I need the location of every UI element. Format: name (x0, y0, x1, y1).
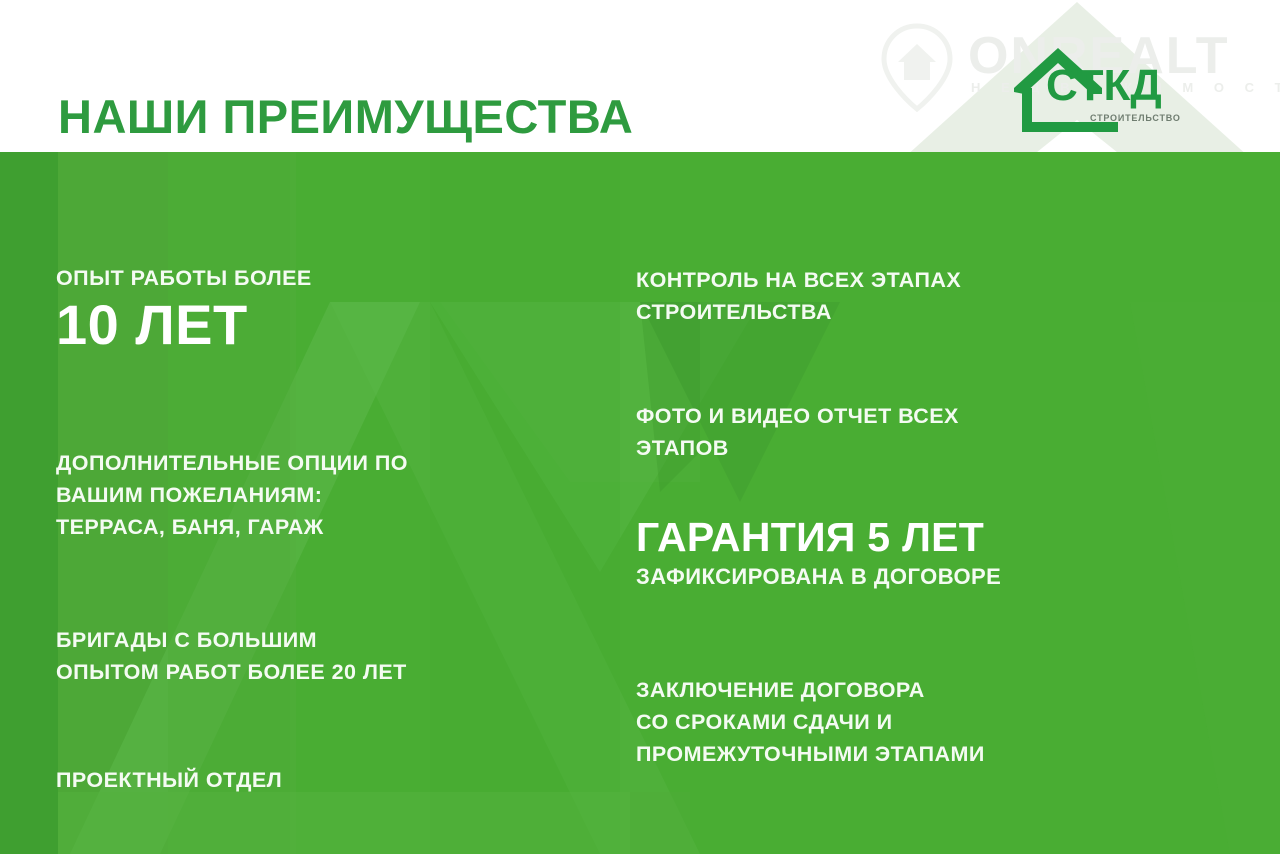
advantage-warranty: ГАРАНТИЯ 5 ЛЕТ ЗАФИКСИРОВАНА В ДОГОВОРЕ (636, 512, 1001, 592)
advantage-line: СТРОИТЕЛЬСТВА (636, 296, 961, 328)
advantage-line: ПРОМЕЖУТОЧНЫМИ ЭТАПАМИ (636, 738, 985, 770)
advantage-line: ФОТО И ВИДЕО ОТЧЕТ ВСЕХ (636, 400, 959, 432)
advantage-line: ДОПОЛНИТЕЛЬНЫЕ ОПЦИИ ПО (56, 447, 408, 479)
advantage-line: КОНТРОЛЬ НА ВСЕХ ЭТАПАХ (636, 264, 961, 296)
advantage-line: СО СРОКАМИ СДАЧИ И (636, 706, 985, 738)
advantage-line: ЗАКЛЮЧЕНИЕ ДОГОВОРА (636, 674, 985, 706)
advantage-line: ЭТАПОВ (636, 432, 959, 464)
advantage-line: ОПЫТ РАБОТЫ БОЛЕЕ (56, 262, 312, 294)
advantage-design-department: ПРОЕКТНЫЙ ОТДЕЛ (56, 764, 282, 796)
advantage-line: БРИГАДЫ С БОЛЬШИМ (56, 624, 407, 656)
logo-wordmark: СТКД (1046, 61, 1162, 111)
advantage-line: ТЕРРАСА, БАНЯ, ГАРАЖ (56, 511, 408, 543)
page-title: НАШИ ПРЕИМУЩЕСТВА (58, 89, 633, 144)
advantages-slide: ОПЫТ РАБОТЫ БОЛЕЕ 10 ЛЕТ ДОПОЛНИТЕЛЬНЫЕ … (0, 0, 1280, 854)
advantage-line: ПРОЕКТНЫЙ ОТДЕЛ (56, 764, 282, 796)
advantage-photo-video-report: ФОТО И ВИДЕО ОТЧЕТ ВСЕХ ЭТАПОВ (636, 400, 959, 464)
advantage-experience: ОПЫТ РАБОТЫ БОЛЕЕ 10 ЛЕТ (56, 262, 312, 356)
stkd-logo[interactable]: СТКД СТРОИТЕЛЬСТВО (1000, 44, 1170, 136)
advantage-line-emphasis: ГАРАНТИЯ 5 ЛЕТ (636, 512, 1001, 562)
slide-header: ONREALT Н Е Д В И Ж И М О С Т Ь НАШИ ПРЕ… (0, 0, 1280, 152)
logo-tagline: СТРОИТЕЛЬСТВО (1090, 113, 1181, 123)
advantage-control: КОНТРОЛЬ НА ВСЕХ ЭТАПАХ СТРОИТЕЛЬСТВА (636, 264, 961, 328)
advantage-extra-options: ДОПОЛНИТЕЛЬНЫЕ ОПЦИИ ПО ВАШИМ ПОЖЕЛАНИЯМ… (56, 447, 408, 543)
advantage-line: ЗАФИКСИРОВАНА В ДОГОВОРЕ (636, 562, 1001, 592)
advantage-line: ОПЫТОМ РАБОТ БОЛЕЕ 20 ЛЕТ (56, 656, 407, 688)
advantage-crews: БРИГАДЫ С БОЛЬШИМ ОПЫТОМ РАБОТ БОЛЕЕ 20 … (56, 624, 407, 688)
advantage-line-emphasis: 10 ЛЕТ (56, 294, 312, 356)
advantage-contract: ЗАКЛЮЧЕНИЕ ДОГОВОРА СО СРОКАМИ СДАЧИ И П… (636, 674, 985, 770)
advantage-line: ВАШИМ ПОЖЕЛАНИЯМ: (56, 479, 408, 511)
green-panel: ОПЫТ РАБОТЫ БОЛЕЕ 10 ЛЕТ ДОПОЛНИТЕЛЬНЫЕ … (0, 152, 1280, 854)
